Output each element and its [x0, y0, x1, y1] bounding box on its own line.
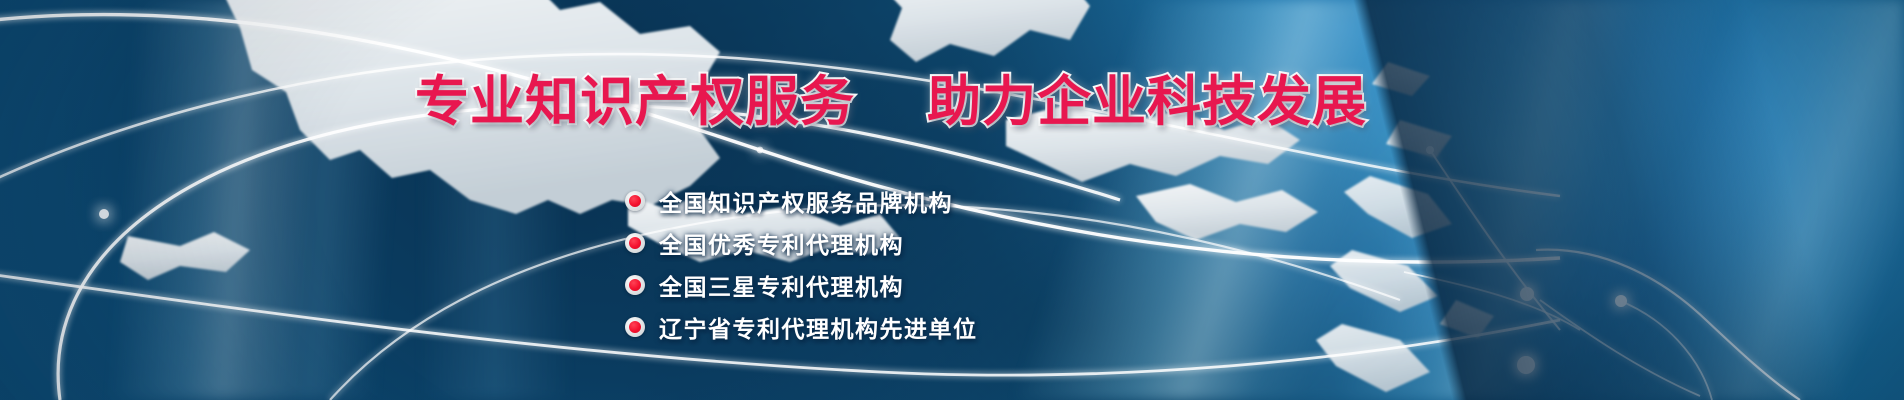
list-item: 全国优秀专利代理机构 — [625, 222, 978, 264]
red-dot-bullet-icon — [625, 275, 645, 295]
banner-headline: 专业知识产权服务 助力企业科技发展 — [415, 57, 1367, 136]
banner-content: 专业知识产权服务 助力企业科技发展 全国知识产权服务品牌机构 全国优秀专利代理机… — [0, 0, 1904, 400]
list-item-label: 全国三星专利代理机构 — [659, 268, 904, 302]
red-dot-bullet-icon — [625, 233, 645, 253]
list-item: 辽宁省专利代理机构先进单位 — [625, 306, 978, 348]
list-item-label: 辽宁省专利代理机构先进单位 — [659, 310, 978, 344]
list-item-label: 全国优秀专利代理机构 — [659, 226, 904, 260]
list-item: 全国知识产权服务品牌机构 — [625, 180, 978, 222]
red-dot-bullet-icon — [625, 191, 645, 211]
promotional-banner: 专业知识产权服务 助力企业科技发展 全国知识产权服务品牌机构 全国优秀专利代理机… — [0, 0, 1904, 400]
list-item: 全国三星专利代理机构 — [625, 264, 978, 306]
list-item-label: 全国知识产权服务品牌机构 — [659, 184, 953, 218]
red-dot-bullet-icon — [625, 317, 645, 337]
credentials-list: 全国知识产权服务品牌机构 全国优秀专利代理机构 全国三星专利代理机构 辽宁省专利… — [625, 180, 978, 348]
headline-part-1: 专业知识产权服务 — [415, 72, 855, 132]
headline-part-2: 助力企业科技发展 — [927, 72, 1367, 132]
